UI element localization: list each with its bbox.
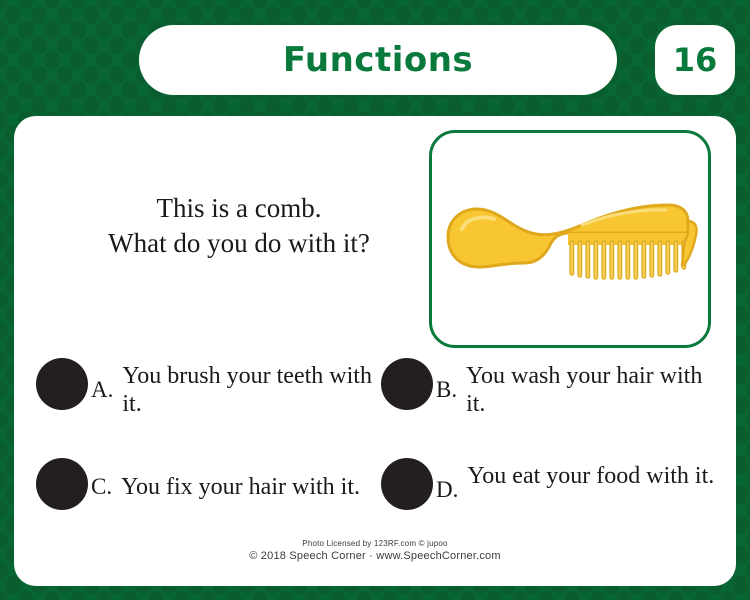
page-title: Functions [283, 43, 473, 77]
prompt-line-1: This is a comb. [44, 191, 434, 226]
answer-option-b[interactable]: B. You wash your hair with it. [381, 356, 721, 419]
answer-bullet-icon[interactable] [381, 358, 433, 410]
answer-text-a: You brush your teeth with it. [122, 362, 376, 419]
answer-bullet-icon[interactable] [36, 358, 88, 410]
question-prompt: This is a comb. What do you do with it? [44, 191, 434, 260]
answer-bullet-icon[interactable] [381, 458, 433, 510]
title-bar: Functions [139, 25, 617, 95]
photo-license-text: Photo Licensed by 123RF.com © jupoo [14, 538, 736, 549]
copyright-text: © 2018 Speech Corner · www.SpeechCorner.… [14, 549, 736, 564]
content-card: This is a comb. What do you do with it? [14, 116, 736, 586]
answer-letter-c: C. [91, 475, 112, 498]
answer-option-c[interactable]: C. You fix your hair with it. [36, 456, 376, 510]
card-number-badge: 16 [655, 25, 735, 95]
footer-credits: Photo Licensed by 123RF.com © jupoo © 20… [14, 538, 736, 565]
answer-letter-b: B. [436, 378, 457, 401]
card-header: Functions 16 [0, 0, 750, 100]
answer-text-d: You eat your food with it. [467, 462, 714, 490]
answer-bullet-icon[interactable] [36, 458, 88, 510]
answer-letter-a: A. [91, 378, 113, 401]
flashcard-page: Functions 16 This is a comb. What do you… [0, 0, 750, 600]
answer-letter-d: D. [436, 478, 458, 501]
card-number-label: 16 [673, 44, 718, 76]
prompt-line-2: What do you do with it? [44, 226, 434, 261]
answer-option-a[interactable]: A. You brush your teeth with it. [36, 356, 376, 419]
answer-text-b: You wash your hair with it. [466, 362, 721, 419]
stimulus-image-frame [429, 130, 711, 348]
answer-text-c: You fix your hair with it. [121, 473, 360, 501]
answer-option-d[interactable]: D. You eat your food with it. [381, 456, 721, 510]
comb-icon [432, 133, 702, 339]
